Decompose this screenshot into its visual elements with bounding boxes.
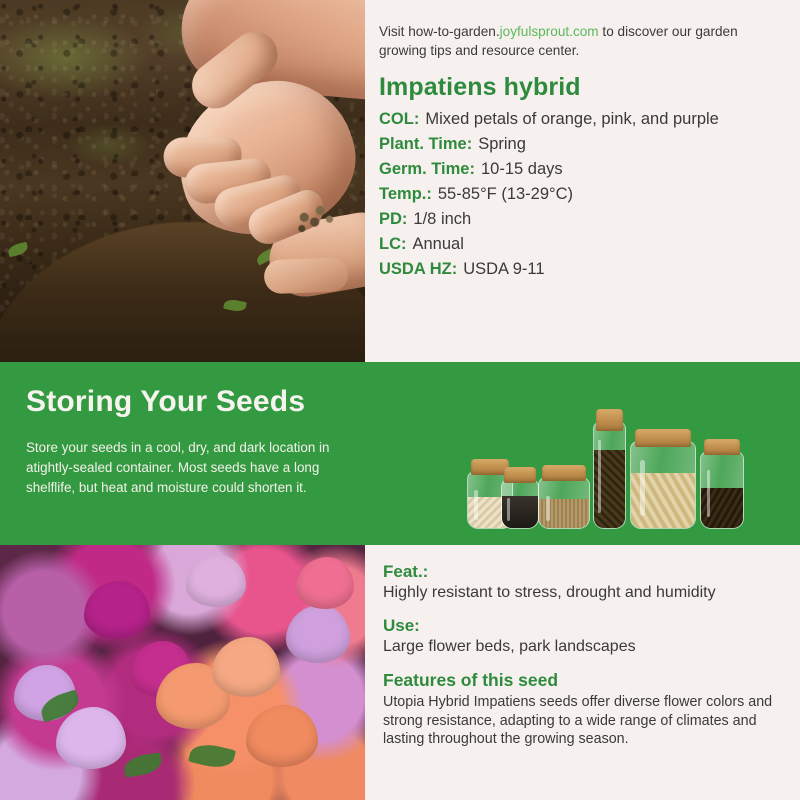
section-body: Store your seeds in a cool, dry, and dar… <box>26 438 356 497</box>
spec-row-usda-hz: USDA HZ: USDA 9-11 <box>379 260 786 279</box>
seed-jar <box>538 465 590 529</box>
seed-jar <box>501 467 539 529</box>
spec-key: COL: <box>379 110 419 129</box>
spec-row-lc: LC: Annual <box>379 235 786 254</box>
spec-value: Mixed petals of orange, pink, and purple <box>425 110 719 129</box>
features-heading: Features of this seed <box>383 670 788 691</box>
features-panel: Feat.: Highly resistant to stress, droug… <box>365 545 800 800</box>
spec-row-germ-time: Germ. Time: 10-15 days <box>379 160 786 179</box>
feature-label: Feat.: <box>383 562 788 582</box>
visit-website-line: Visit how-to-garden.joyfulsprout.com to … <box>379 22 786 61</box>
hand-sowing-seeds-photo <box>0 0 365 362</box>
spec-key: Plant. Time: <box>379 135 472 154</box>
spec-key: USDA HZ: <box>379 260 457 279</box>
spec-row-pd: PD: 1/8 inch <box>379 210 786 229</box>
fingers <box>157 96 365 271</box>
spec-value: 1/8 inch <box>413 210 471 229</box>
spec-value: Annual <box>413 235 464 254</box>
storing-your-seeds-section: Storing Your Seeds Store your seeds in a… <box>0 362 800 545</box>
spec-row-col: COL: Mixed petals of orange, pink, and p… <box>379 110 786 129</box>
spec-key: Temp.: <box>379 185 432 204</box>
spec-value: 10-15 days <box>481 160 563 179</box>
website-link[interactable]: joyfulsprout.com <box>500 24 599 39</box>
spec-value: Spring <box>478 135 526 154</box>
specification-list: COL: Mixed petals of orange, pink, and p… <box>379 110 786 279</box>
use-label: Use: <box>383 616 788 636</box>
spec-value: 55-85°F (13-29°C) <box>438 185 573 204</box>
flower-petal <box>186 555 246 607</box>
spec-key: LC: <box>379 235 407 254</box>
seed-jar <box>630 429 696 529</box>
seed-storage-jars-illustration <box>455 384 785 529</box>
spec-key: PD: <box>379 210 407 229</box>
impatiens-flowers-photo <box>0 545 365 800</box>
spec-value: USDA 9-11 <box>463 260 544 279</box>
seed-packet-infographic: Visit how-to-garden.joyfulsprout.com to … <box>0 0 800 800</box>
spec-row-plant-time: Plant. Time: Spring <box>379 135 786 154</box>
page-title: Impatiens hybrid <box>379 73 786 102</box>
spec-row-temp: Temp.: 55-85°F (13-29°C) <box>379 185 786 204</box>
species-info-panel: Visit how-to-garden.joyfulsprout.com to … <box>365 0 800 362</box>
feature-value: Highly resistant to stress, drought and … <box>383 583 788 603</box>
spec-key: Germ. Time: <box>379 160 475 179</box>
use-value: Large flower beds, park landscapes <box>383 637 788 657</box>
visit-prefix: Visit how-to-garden. <box>379 24 500 39</box>
flower-petal <box>296 557 354 609</box>
section-title: Storing Your Seeds <box>26 385 305 419</box>
seed-jar <box>593 409 626 529</box>
seed-jar <box>700 439 744 529</box>
features-description: Utopia Hybrid Impatiens seeds offer dive… <box>383 693 788 749</box>
